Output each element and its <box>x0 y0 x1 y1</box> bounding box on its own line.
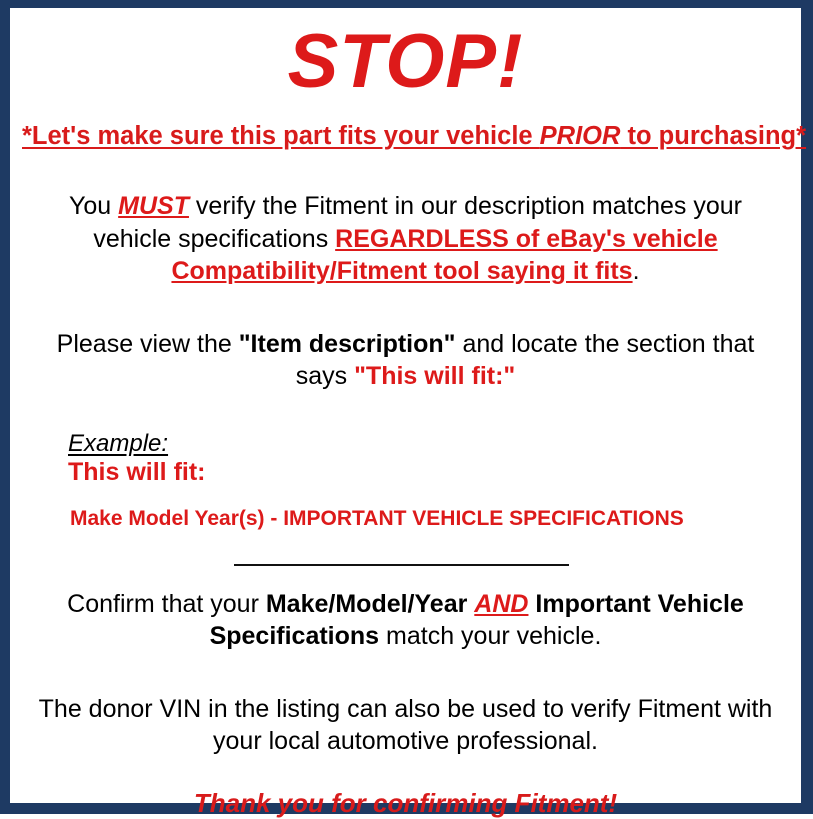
subtitle-lead-text: *Let's make sure this part fits your veh… <box>22 122 540 150</box>
horizontal-rule <box>234 564 569 566</box>
subtitle-emphasis-prior: PRIOR <box>540 122 621 150</box>
example-spec-line: Make Model Year(s) - IMPORTANT VEHICLE S… <box>68 506 789 531</box>
paragraph-please-view: Please view the "Item description" and l… <box>22 328 789 393</box>
fitment-notice-card: STOP! *Let's make sure this part fits yo… <box>0 0 813 814</box>
emphasis-this-will-fit: "This will fit:" <box>354 362 515 390</box>
paragraph-confirm: Confirm that your Make/Model/Year AND Im… <box>22 588 789 653</box>
confirm-segment-4: match your vehicle. <box>379 622 601 650</box>
emphasis-must: MUST <box>118 192 189 220</box>
confirm-segment-1: Confirm that your <box>67 590 266 618</box>
emphasis-make-model-year: Make/Model/Year <box>266 590 467 618</box>
paragraph-donor-vin: The donor VIN in the listing can also be… <box>22 693 789 758</box>
paragraph-must-verify: You MUST verify the Fitment in our descr… <box>22 190 789 288</box>
emphasis-and: AND <box>474 590 528 618</box>
subtitle-line: *Let's make sure this part fits your veh… <box>22 122 789 150</box>
example-label: Example: <box>68 431 789 456</box>
emphasis-item-description: "Item description" <box>239 330 456 358</box>
page-title: STOP! <box>22 24 789 100</box>
closing-thank-you: Thank you for confirming Fitment! <box>22 788 789 819</box>
notice-content: STOP! *Let's make sure this part fits yo… <box>10 8 801 803</box>
please-segment-1: Please view the <box>57 330 239 358</box>
must-segment-3: . <box>633 257 640 285</box>
subtitle-tail-text: to purchasing* <box>620 122 806 150</box>
example-block: Example: This will fit: Make Model Year(… <box>22 431 789 532</box>
must-segment-1: You <box>69 192 118 220</box>
divider-container <box>22 556 789 576</box>
example-this-will-fit: This will fit: <box>68 458 789 487</box>
